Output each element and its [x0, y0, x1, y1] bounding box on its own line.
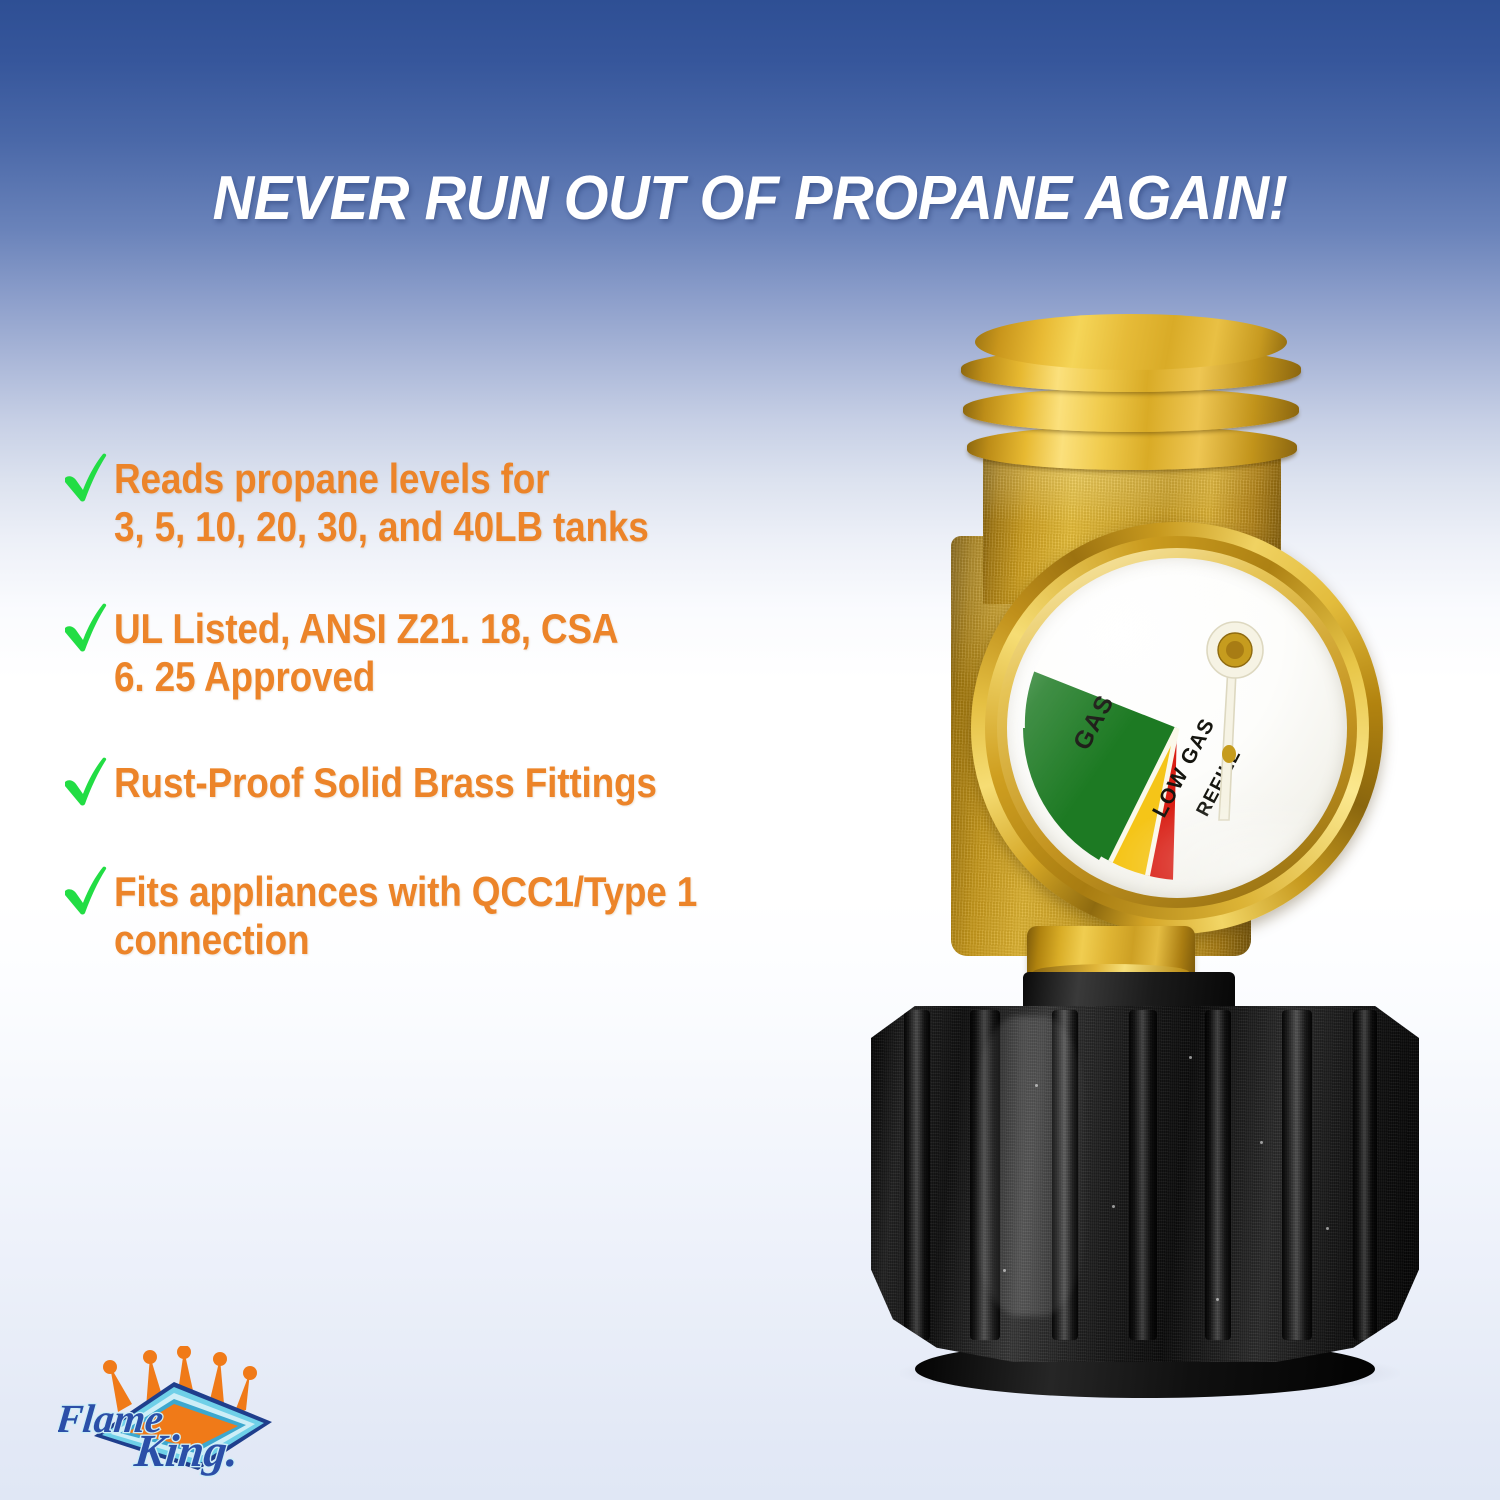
list-item: Reads propane levels for 3, 5, 10, 20, 3…	[62, 455, 942, 551]
brand-logo[interactable]: Flame King.	[58, 1346, 290, 1484]
list-item-line: Fits appliances with QCC1/Type 1	[114, 868, 843, 916]
check-icon	[62, 601, 110, 653]
thread-ring	[963, 388, 1299, 432]
list-item: Fits appliances with QCC1/Type 1 connect…	[62, 868, 942, 964]
gauge-dial-face: GAS LOW GAS REFILL	[1007, 558, 1347, 898]
brass-threaded-top	[961, 314, 1301, 484]
thread-ring	[967, 426, 1297, 470]
flame-king-logo-art: Flame King.	[58, 1346, 290, 1484]
list-item-line: Rust-Proof Solid Brass Fittings	[114, 759, 843, 807]
list-item: UL Listed, ANSI Z21. 18, CSA 6. 25 Appro…	[62, 605, 942, 701]
gauge-pin	[1222, 745, 1236, 763]
brass-top-face	[975, 314, 1287, 370]
logo-word-king: King.	[131, 1425, 241, 1476]
page-title: NEVER RUN OUT OF PROPANE AGAIN!	[53, 166, 1448, 231]
propane-level-gauge: GAS LOW GAS REFILL	[971, 522, 1383, 934]
list-item-text: Fits appliances with QCC1/Type 1 connect…	[114, 868, 843, 964]
list-item-text: Rust-Proof Solid Brass Fittings	[114, 759, 843, 807]
nut-body	[871, 1006, 1419, 1362]
nut-rib	[1205, 1010, 1231, 1340]
nut-rib	[904, 1010, 930, 1340]
list-item-line: Reads propane levels for	[114, 455, 843, 503]
product-image: GAS LOW GAS REFILL	[855, 300, 1440, 1390]
list-item-line: 3, 5, 10, 20, 30, and 40LB tanks	[114, 503, 843, 551]
list-item-line: 6. 25 Approved	[114, 653, 843, 701]
list-item-text: Reads propane levels for 3, 5, 10, 20, 3…	[114, 455, 843, 551]
marketing-image-canvas: NEVER RUN OUT OF PROPANE AGAIN! Reads pr…	[0, 0, 1500, 1500]
nut-highlight	[970, 1016, 1091, 1316]
check-icon	[62, 864, 110, 916]
nut-rib	[1282, 1010, 1312, 1340]
black-qcc1-nut	[871, 972, 1419, 1392]
nut-rib	[1353, 1010, 1377, 1340]
list-item-line: UL Listed, ANSI Z21. 18, CSA	[114, 605, 843, 653]
nut-rib	[1129, 1010, 1157, 1340]
list-item: Rust-Proof Solid Brass Fittings	[62, 759, 942, 807]
gauge-needle	[1007, 558, 1347, 898]
list-item-text: UL Listed, ANSI Z21. 18, CSA 6. 25 Appro…	[114, 605, 843, 701]
list-item-line: connection	[114, 916, 843, 964]
check-icon	[62, 755, 110, 807]
feature-list: Reads propane levels for 3, 5, 10, 20, 3…	[62, 455, 942, 964]
check-icon	[62, 451, 110, 503]
